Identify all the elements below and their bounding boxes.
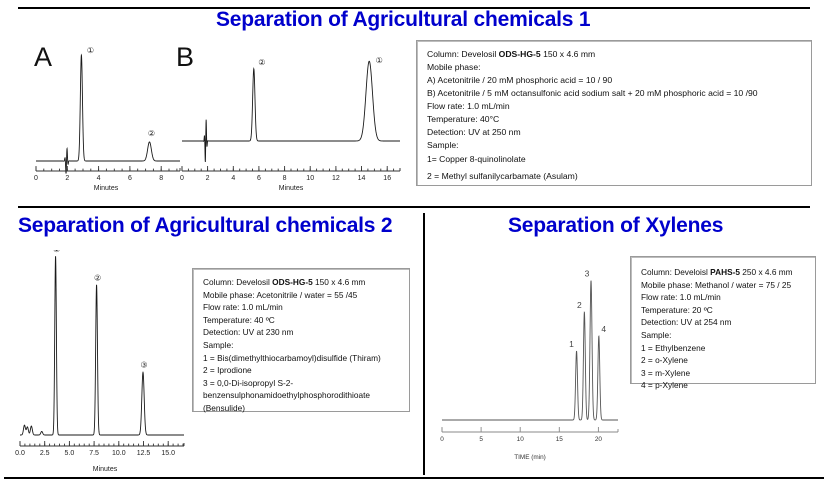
info-line: 2 = Methyl sulfanilycarbamate (Asulam)	[427, 170, 803, 183]
info-line: Sample:	[203, 339, 401, 352]
info-line: 1= Copper 8-quinolinolate	[427, 153, 803, 166]
page-title-xylenes: Separation of Xylenes	[508, 214, 723, 238]
info-line: Flow rate: 1.0 mL/min	[203, 301, 401, 314]
page-title-agricultural-1: Separation of Agricultural chemicals 1	[216, 8, 590, 32]
divider-bottom	[4, 477, 824, 479]
info-line: (Bensulide)	[203, 402, 401, 415]
peak-label: ②	[258, 58, 265, 67]
info-line: benzensulphonamidoethylphosphorodithioat…	[203, 389, 401, 402]
info-line: 3 = 0,0-Di-isopropyl S-2-	[203, 377, 401, 390]
info-line: 2 = o-Xylene	[641, 354, 807, 367]
x-tick-label: 20	[595, 436, 603, 443]
info-line: A) Acetonitrile / 20 mM phosphoric acid …	[427, 74, 803, 87]
x-tick-label: 12.5	[137, 450, 151, 457]
method-info-box-xylenes: Column: Develoisl PAHS-5 250 x 4.6 mm Mo…	[630, 256, 816, 384]
chromatogram-b: 0246810121416 ②① Minutes	[172, 45, 410, 193]
peak-label: 4	[601, 324, 606, 334]
chromatogram-a: 02468 ①② Minutes	[22, 45, 190, 193]
peak-label: ①	[87, 46, 94, 55]
peak-label: ①	[376, 56, 383, 65]
info-line: Mobile phase: Acetonitrile / water = 55 …	[203, 289, 401, 302]
info-line: Flow rate: 1.0 mL/min	[641, 291, 807, 304]
info-line: Temperature: 40°C	[427, 113, 803, 126]
info-line: Detection: UV at 230 nm	[203, 326, 401, 339]
info-line: 4 = p-Xylene	[641, 379, 807, 392]
info-line: Flow rate: 1.0 mL/min	[427, 100, 803, 113]
x-tick-label: 7.5	[89, 450, 99, 457]
x-tick-label: 10.0	[112, 450, 126, 457]
x-tick-label: 8	[283, 175, 287, 182]
info-line: Sample:	[427, 139, 803, 152]
x-tick-label: 4	[231, 175, 235, 182]
info-line: Column: Develoisl PAHS-5 250 x 4.6 mm	[641, 266, 807, 279]
info-line: Temperature: 40 ºC	[203, 314, 401, 327]
axis-label-minutes-a: Minutes	[94, 185, 119, 192]
x-tick-label: 2	[65, 175, 69, 182]
x-tick-label: 0	[34, 175, 38, 182]
info-line: Detection: UV at 254 nm	[641, 316, 807, 329]
info-line: Sample:	[641, 329, 807, 342]
chromatogram-xylenes: 05101520 1234 TIME (min)	[432, 252, 628, 464]
axis-label-time-d: TIME (min)	[514, 454, 546, 461]
info-line: Temperature: 20 ºC	[641, 304, 807, 317]
x-tick-label: 10	[517, 436, 525, 443]
divider-middle	[18, 206, 810, 208]
x-tick-label: 12	[332, 175, 340, 182]
info-line: Mobile phase: Methanol / water = 75 / 25	[641, 279, 807, 292]
x-tick-label: 15	[556, 436, 564, 443]
peak-label: ②	[148, 129, 155, 138]
info-line: B) Acetonitrile / 5 mM octansulfonic aci…	[427, 87, 803, 100]
info-line: 2 = Iprodione	[203, 364, 401, 377]
info-line: 1 = Ethylbenzene	[641, 342, 807, 355]
x-tick-label: 5	[479, 436, 483, 443]
x-tick-label: 5.0	[65, 450, 75, 457]
x-tick-label: 2.5	[40, 450, 50, 457]
x-tick-label: 10	[306, 175, 314, 182]
method-info-box-agricultural-2: Column: Develosil ODS-HG-5 150 x 4.6 mm …	[192, 268, 410, 412]
x-tick-label: 2	[206, 175, 210, 182]
x-tick-label: 0	[180, 175, 184, 182]
peak-label: ②	[94, 274, 101, 283]
x-tick-label: 0	[440, 436, 444, 443]
info-line: Column: Develosil ODS-HG-5 150 x 4.6 mm	[427, 48, 803, 61]
method-info-box-agricultural-1: Column: Develosil ODS-HG-5 150 x 4.6 mm …	[416, 40, 812, 186]
peak-label: 2	[577, 300, 582, 310]
divider-vertical-center	[423, 213, 425, 475]
x-tick-label: 6	[128, 175, 132, 182]
axis-label-minutes-c: Minutes	[93, 466, 118, 473]
info-line: Mobile phase:	[427, 61, 803, 74]
x-tick-label: 6	[257, 175, 261, 182]
info-line: 3 = m-Xylene	[641, 367, 807, 380]
x-tick-label: 15.0	[161, 450, 175, 457]
peak-label: 3	[585, 269, 590, 279]
peak-label: ③	[140, 360, 147, 369]
chromatogram-agricultural-2: 0.02.55.07.510.012.515.0 ①②③ Minutes	[12, 250, 198, 475]
x-tick-label: 14	[358, 175, 366, 182]
x-tick-label: 8	[159, 175, 163, 182]
peak-label: ①	[53, 250, 60, 254]
x-tick-label: 16	[383, 175, 391, 182]
axis-label-minutes-b: Minutes	[279, 185, 304, 192]
x-tick-label: 4	[97, 175, 101, 182]
peak-label: 1	[569, 339, 574, 349]
info-line: 1 = Bis(dimethylthiocarbamoyl)disulfide …	[203, 352, 401, 365]
info-line: Detection: UV at 250 nm	[427, 126, 803, 139]
page-title-agricultural-2: Separation of Agricultural chemicals 2	[18, 214, 392, 238]
x-tick-label: 0.0	[15, 450, 25, 457]
info-line: Column: Develosil ODS-HG-5 150 x 4.6 mm	[203, 276, 401, 289]
